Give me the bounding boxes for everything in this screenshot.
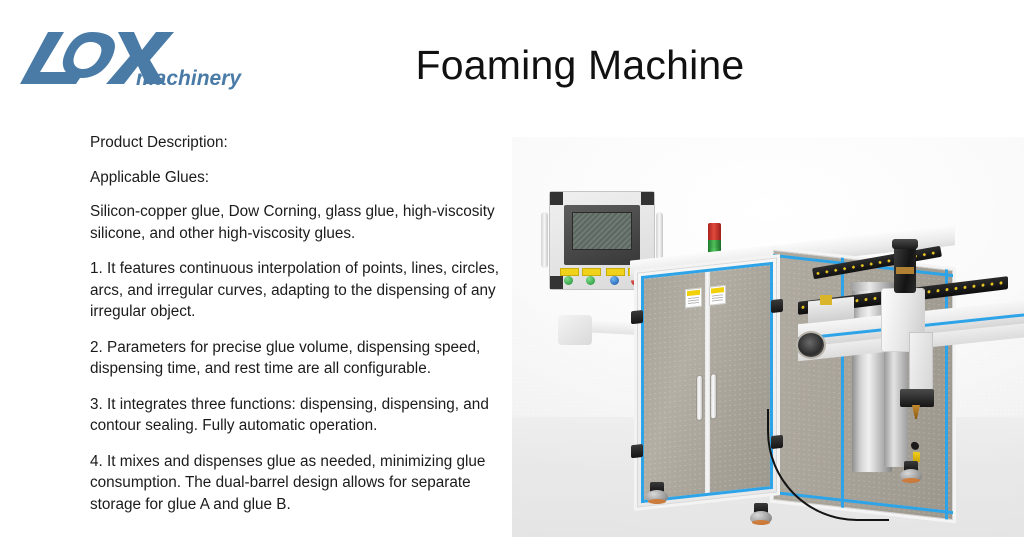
paragraph-feature-2: 2. Parameters for precise glue volume, d… — [90, 337, 514, 380]
brand-logo[interactable]: machinery — [14, 26, 254, 94]
hmi-label-2 — [582, 268, 601, 276]
z-axis-plate — [910, 333, 932, 393]
dispensing-valve — [900, 389, 934, 407]
door-hinge-bl — [631, 444, 643, 458]
fan-grille-icon — [798, 333, 824, 357]
logo-wordmark: machinery — [136, 67, 242, 90]
paragraph-feature-1: 1. It features continuous interpolation … — [90, 258, 514, 323]
caster-ring-3 — [902, 478, 920, 483]
caster-ring-1 — [648, 499, 666, 504]
lox-machinery-logo-icon: machinery — [14, 26, 254, 94]
hmi-arm-joint — [558, 315, 592, 345]
hmi-start-button[interactable] — [564, 276, 573, 285]
hmi-corner-tl — [550, 192, 563, 205]
hmi-handle-left[interactable] — [541, 212, 548, 268]
paragraph-product-description: Product Description: — [90, 132, 514, 154]
hmi-label-3 — [606, 268, 625, 276]
product-photo — [512, 137, 1024, 537]
hmi-screen[interactable] — [572, 212, 632, 250]
product-description-block: Product Description: Applicable Glues: S… — [90, 132, 514, 529]
door-handle-right[interactable] — [711, 374, 716, 419]
cabinet-doors[interactable] — [634, 254, 780, 511]
paragraph-glue-types: Silicon-copper glue, Dow Corning, glass … — [90, 201, 514, 244]
slide-root: machinery Foaming Machine Product Descri… — [0, 0, 1024, 537]
warning-label-left — [685, 288, 702, 309]
valve-indicator — [820, 295, 832, 305]
servo-motor — [894, 245, 916, 293]
hmi-corner-tr — [641, 192, 654, 205]
door-hinge-tr — [771, 299, 783, 313]
motor-band — [896, 267, 914, 274]
black-port — [911, 441, 919, 450]
hmi-mode-button[interactable] — [610, 276, 619, 285]
paragraph-feature-3: 3. It integrates three functions: dispen… — [90, 394, 514, 437]
cabinet-trim-right-v — [945, 269, 948, 519]
stack-light-green-upper — [708, 240, 721, 248]
caster-ring-2 — [752, 520, 770, 525]
stack-light-red — [708, 223, 721, 240]
motor-cap — [892, 239, 918, 249]
warning-label-right — [709, 285, 726, 306]
hmi-label-1 — [560, 268, 579, 276]
door-handle-left[interactable] — [697, 376, 702, 421]
caster-wheel-rear-right — [900, 461, 922, 485]
caster-wheel-front-right — [750, 503, 772, 527]
hmi-bezel — [564, 205, 640, 265]
hmi-reset-button[interactable] — [586, 276, 595, 285]
paragraph-applicable-glues: Applicable Glues: — [90, 167, 514, 189]
door-hinge-tl — [631, 310, 643, 324]
caster-wheel-front-left — [646, 482, 668, 506]
paragraph-feature-4: 4. It mixes and dispenses glue as needed… — [90, 451, 514, 516]
page-title: Foaming Machine — [300, 42, 860, 89]
